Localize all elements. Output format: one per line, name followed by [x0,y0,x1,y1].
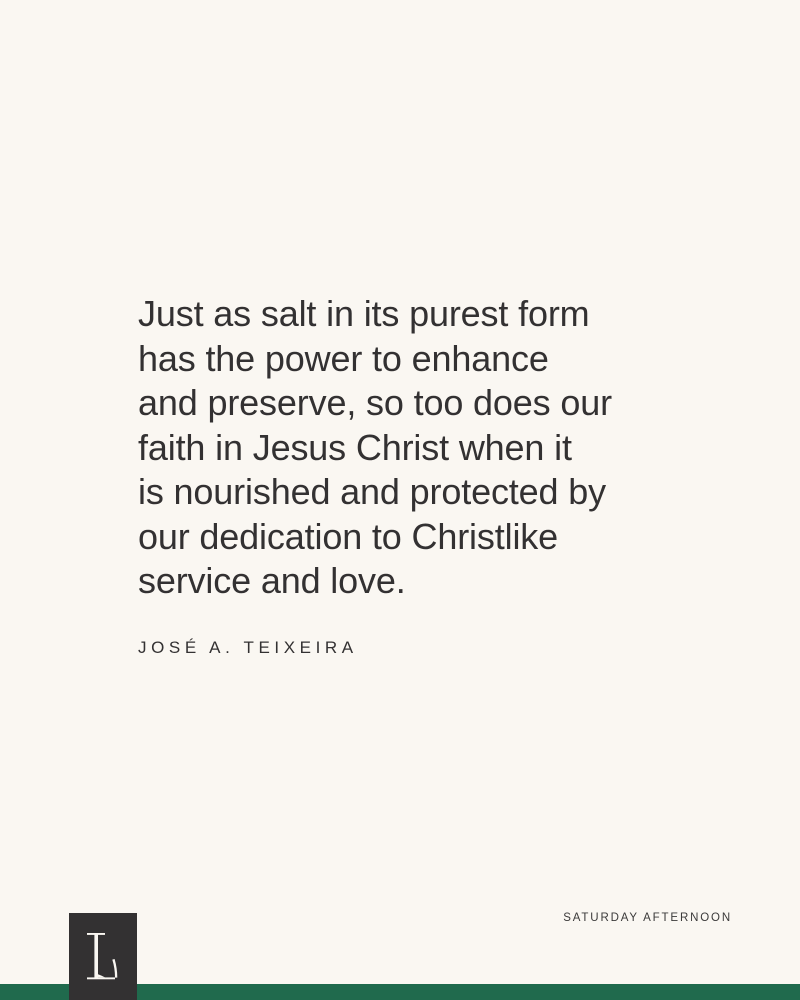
quote-block: Just as salt in its purest form has the … [138,292,678,604]
quote-attribution: JOSÉ A. TEIXEIRA [138,638,358,658]
session-label: SATURDAY AFTERNOON [563,912,732,924]
liahona-l-logo-icon [69,913,137,1000]
quote-card: Just as salt in its purest form has the … [0,0,800,1000]
quote-text: Just as salt in its purest form has the … [138,292,678,604]
